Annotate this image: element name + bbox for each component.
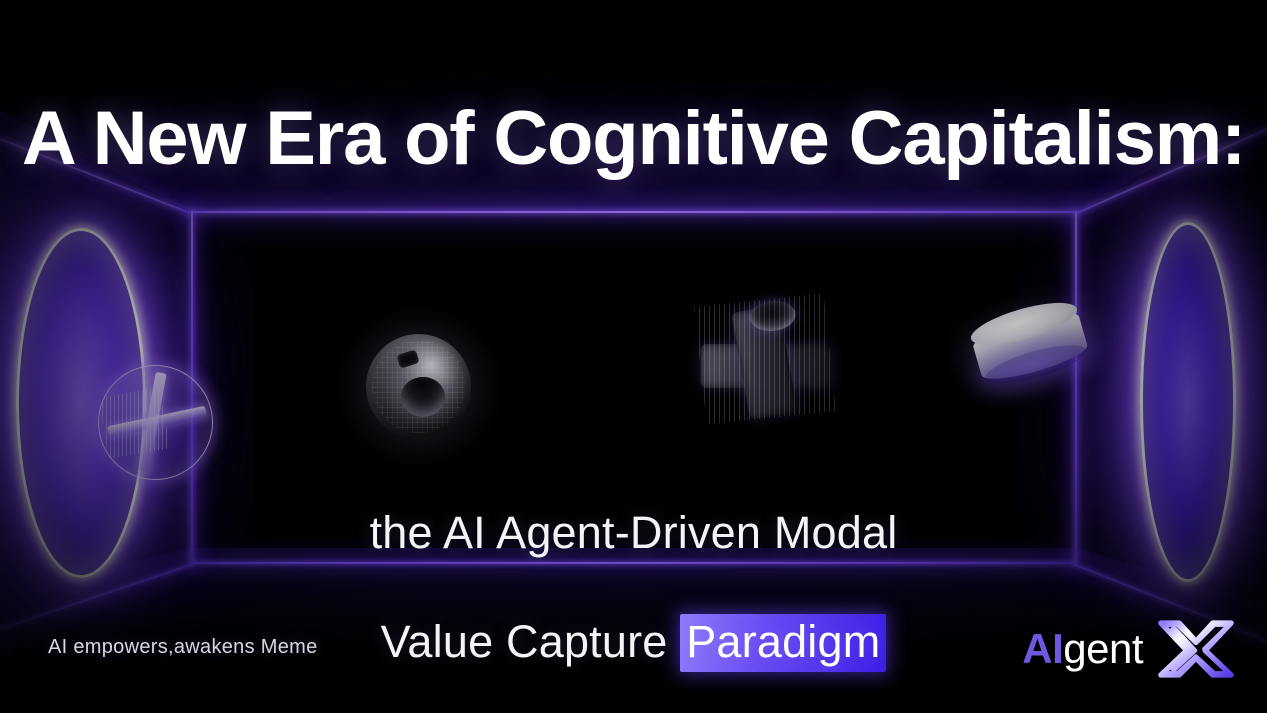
brand-logo[interactable]: AIgent — [1022, 620, 1235, 678]
torus-prop — [366, 334, 471, 439]
brand-wordmark-gent: gent — [1063, 625, 1143, 672]
x-mark-icon — [1157, 620, 1235, 678]
subtitle-highlight-paradigm: Paradigm — [680, 614, 886, 672]
subtitle-line-1: the AI Agent-Driven Modal — [370, 507, 898, 558]
presentation-slide: A New Era of Cognitive Capitalism: the A… — [0, 0, 1267, 713]
brand-wordmark: AIgent — [1022, 628, 1143, 670]
brand-wordmark-ai: AI — [1022, 625, 1063, 672]
subtitle-line-2-prefix: Value Capture — [381, 616, 681, 667]
room-edge-back-top — [190, 211, 1078, 213]
torus-bore-hole — [401, 377, 445, 417]
pipe-cross-prop — [694, 294, 836, 425]
tagline: AI empowers,awakens Meme — [48, 636, 318, 659]
page-title: A New Era of Cognitive Capitalism: — [0, 97, 1267, 180]
